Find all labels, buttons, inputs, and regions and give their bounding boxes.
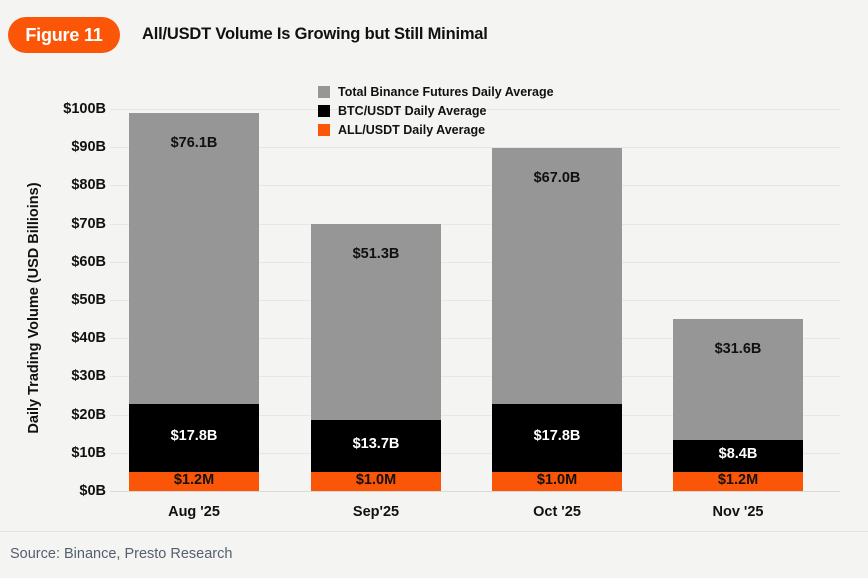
bar-segment[interactable] [673, 472, 803, 491]
bar-segment[interactable] [129, 113, 259, 404]
bar-group[interactable]: $1.2M$8.4B$31.6BNov '25 [673, 0, 803, 578]
bar-group[interactable]: $1.0M$13.7B$51.3BSep'25 [311, 0, 441, 578]
bar-segment[interactable] [129, 472, 259, 491]
y-axis-tick-label: $70B [6, 216, 106, 232]
x-axis-tick-label: Oct '25 [492, 504, 622, 520]
y-axis-tick-label: $80B [6, 177, 106, 193]
bar-group[interactable]: $1.2M$17.8B$76.1BAug '25 [129, 0, 259, 578]
x-axis-tick-label: Sep'25 [311, 504, 441, 520]
y-axis-tick-label: $50B [6, 292, 106, 308]
y-axis-tick-label: $40B [6, 330, 106, 346]
bar-segment[interactable] [673, 319, 803, 440]
chart-plot-area: Daily Trading Volume (USD Billioins) $0B… [0, 0, 868, 578]
bar-segment[interactable] [492, 472, 622, 491]
y-axis-tick-label: $30B [6, 368, 106, 384]
bar-segment[interactable] [492, 148, 622, 404]
y-axis-tick-label: $10B [6, 445, 106, 461]
x-axis-tick-label: Nov '25 [673, 504, 803, 520]
x-axis-tick-label: Aug '25 [129, 504, 259, 520]
y-axis-tick-label: $0B [6, 483, 106, 499]
source-note: Source: Binance, Presto Research [10, 546, 232, 562]
bar-segment[interactable] [311, 224, 441, 420]
y-axis-tick-label: $60B [6, 254, 106, 270]
bar-segment[interactable] [129, 404, 259, 472]
y-axis-tick-label: $100B [6, 101, 106, 117]
bar-group[interactable]: $1.0M$17.8B$67.0BOct '25 [492, 0, 622, 578]
y-axis-tick-label: $90B [6, 139, 106, 155]
bar-segment[interactable] [673, 440, 803, 472]
bar-segment[interactable] [311, 420, 441, 472]
y-axis-tick-label: $20B [6, 407, 106, 423]
bar-segment[interactable] [492, 404, 622, 472]
bar-segment[interactable] [311, 472, 441, 491]
footer-divider [0, 531, 868, 532]
